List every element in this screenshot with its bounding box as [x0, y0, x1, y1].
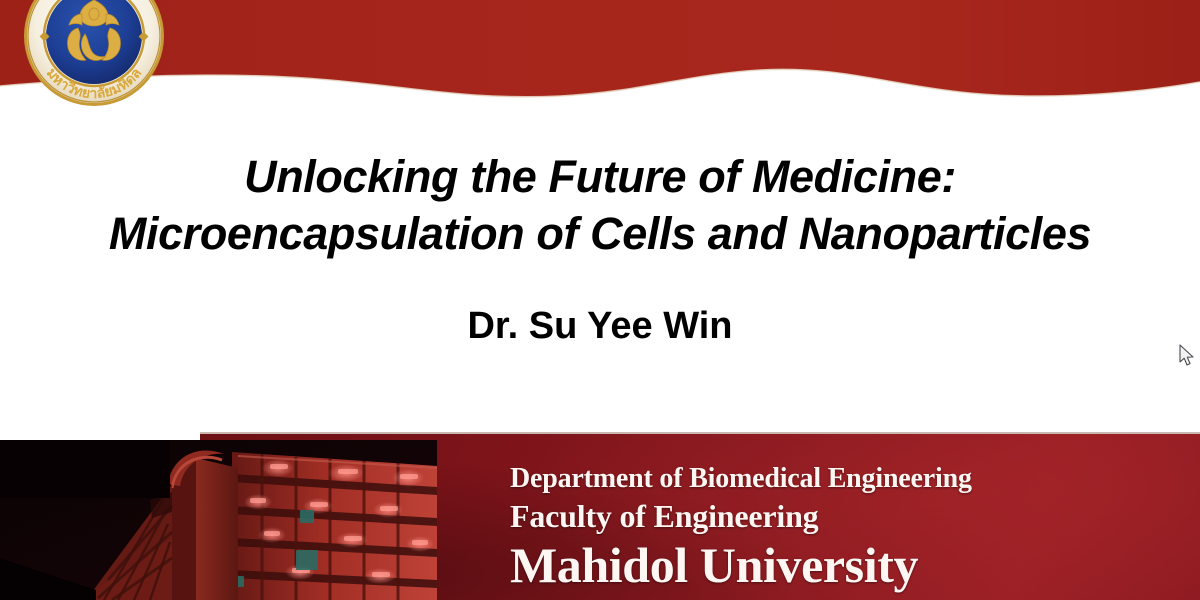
footer-university-line: Mahidol University [510, 536, 972, 594]
footer-faculty-line: Faculty of Engineering [510, 496, 972, 536]
left-white-strip [0, 425, 200, 440]
footer-department-line: Department of Biomedical Engineering [510, 462, 972, 496]
building-night-photo [0, 440, 437, 600]
top-red-wave-banner [0, 0, 1200, 120]
mahidol-university-logo-icon: มหาวิทยาลัยมหิดล [22, 0, 166, 108]
mouse-pointer-icon [1179, 344, 1197, 368]
title-line-2: Microencapsulation of Cells and Nanopart… [0, 205, 1200, 262]
footer-affiliation-text: Department of Biomedical Engineering Fac… [510, 462, 972, 594]
presenter-name: Dr. Su Yee Win [0, 303, 1200, 349]
title-line-1: Unlocking the Future of Medicine: [0, 148, 1200, 205]
presentation-slide: มหาวิทยาลัยมหิดล Unlocking the Future of… [0, 0, 1200, 600]
slide-title: Unlocking the Future of Medicine: Microe… [0, 148, 1200, 262]
